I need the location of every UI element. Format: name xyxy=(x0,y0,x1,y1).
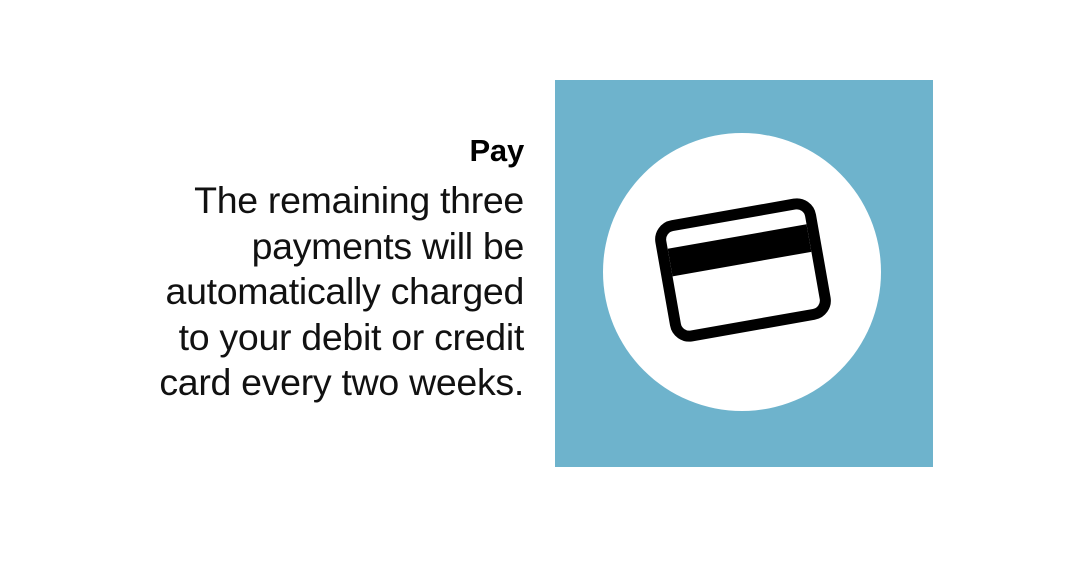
credit-card-icon xyxy=(643,188,843,353)
icon-panel xyxy=(555,80,933,467)
page-title: Pay xyxy=(100,132,524,170)
step-description: The remaining three payments will be aut… xyxy=(100,178,524,406)
pay-step-slide: Pay The remaining three payments will be… xyxy=(0,0,1080,572)
text-block: Pay The remaining three payments will be… xyxy=(100,132,524,406)
